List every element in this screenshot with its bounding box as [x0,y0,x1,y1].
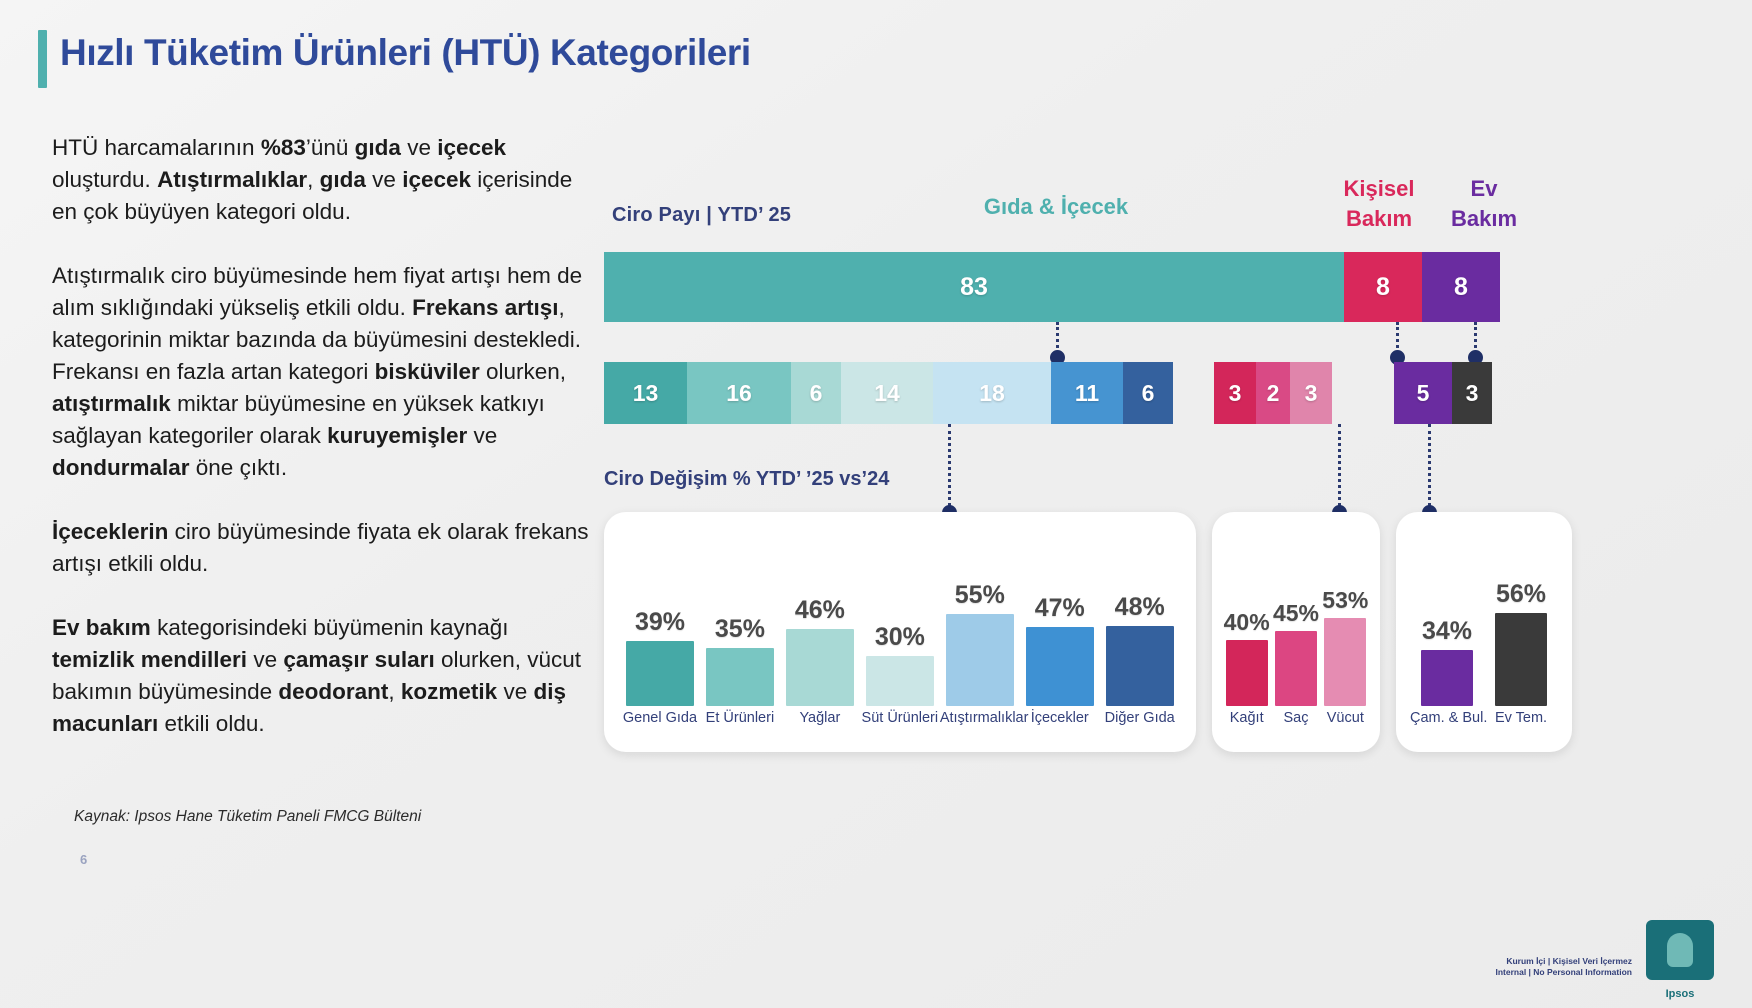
detail-segment-kagit: 3 [1214,362,1256,424]
detail-segment-atistirmaliklar: 18 [933,362,1051,424]
change-card-home-care: 34% 56% Çam. & Bul. Ev Tem. [1396,512,1572,752]
paragraph-2: Atıştırmalık ciro büyümesinde hem fiyat … [52,260,592,484]
detail-bar-personal-care: 3 2 3 [1214,362,1332,424]
bar-rect [866,656,934,706]
change-bar-vucut: 53% [1321,587,1370,706]
change-bar-genel-gida: 39% [620,608,700,706]
detail-segment-diger-gida: 6 [1123,362,1173,424]
bar-rect [1324,618,1366,706]
paragraph-3: İçeceklerin ciro büyümesinde fiyata ek o… [52,516,592,580]
bar-rect [1495,613,1547,706]
detail-bar-home-care: 5 3 [1394,362,1492,424]
change-bar-diger-gida: 48% [1100,593,1180,706]
connector-line-food-bottom [948,424,951,512]
change-card-personal-care: 40% 45% 53% Kağıt Saç Vücut [1212,512,1380,752]
bar-rect [1275,631,1317,706]
group-label-home-care: Ev Bakım [1436,178,1532,230]
category-label: Çam. & Bul. [1410,710,1484,736]
category-label: Atıştırmalıklar [940,710,1020,736]
change-bar-atistirmaliklar: 55% [940,581,1020,706]
share-segment-food: 83 [604,252,1344,322]
change-bars-personal-care: 40% 45% 53% [1212,536,1380,706]
change-bar-sac: 45% [1271,600,1320,706]
paragraph-4: Ev bakım kategorisindeki büyümenin kayna… [52,612,592,740]
detail-segment-camasir-bulasik: 5 [1394,362,1452,424]
change-bar-sut-urunleri: 30% [860,623,940,706]
detail-segment-sut-urunleri: 14 [841,362,933,424]
classification-line-1: Kurum İçi | Kişisel Veri İçermez [1495,956,1632,967]
change-categories-food: Genel Gıda Et Ürünleri Yağlar Süt Ürünle… [604,710,1196,736]
detail-segment-yaglar: 6 [791,362,841,424]
category-label: Süt Ürünleri [860,710,940,736]
bar-rect [1026,627,1094,706]
group-label-food: Gıda & İçecek [926,196,1186,218]
detail-segment-vucut: 3 [1290,362,1332,424]
slide: Hızlı Tüketim Ürünleri (HTÜ) Kategoriler… [0,0,1752,1008]
page-title: Hızlı Tüketim Ürünleri (HTÜ) Kategoriler… [60,32,751,74]
category-label: Kağıt [1222,710,1271,736]
title-accent-bar [38,30,47,88]
detail-segment-ev-temizlik: 3 [1452,362,1492,424]
bar-rect [1106,626,1174,706]
chart-share-label: Ciro Payı | YTD’ 25 [612,204,791,227]
share-segment-personal-care: 8 [1344,252,1422,322]
bar-rect [706,648,774,706]
category-label: Ev Tem. [1484,710,1558,736]
category-label: Diğer Gıda [1100,710,1180,736]
change-bar-et-urunleri: 35% [700,615,780,706]
chart-area: Ciro Payı | YTD’ 25 Gıda & İçecek Kişise… [596,160,1706,800]
category-label: Yağlar [780,710,860,736]
paragraph-1: HTÜ harcamalarının %83’ünü gıda ve içece… [52,132,592,228]
change-bar-icecekler: 47% [1020,594,1100,706]
classification-line-2: Internal | No Personal Information [1495,967,1632,978]
bar-rect [626,641,694,706]
change-card-food: 39% 35% 46% 30% 55% [604,512,1196,752]
change-bar-ev-temizlik: 56% [1484,580,1558,706]
connector-line-personal-bottom [1338,424,1341,512]
change-bars-home-care: 34% 56% [1396,536,1572,706]
change-categories-home-care: Çam. & Bul. Ev Tem. [1396,710,1572,736]
category-label: Et Ürünleri [700,710,780,736]
detail-segment-et-urunleri: 16 [687,362,791,424]
narrative-copy: HTÜ harcamalarının %83’ünü gıda ve içece… [52,132,592,772]
ipsos-wordmark: Ipsos [1646,988,1714,1000]
change-bar-camasir-bulasik: 34% [1410,617,1484,706]
classification-note: Kurum İçi | Kişisel Veri İçermez Interna… [1495,956,1632,978]
change-bar-kagit: 40% [1222,609,1271,706]
bar-rect [1421,650,1473,706]
category-label: Genel Gıda [620,710,700,736]
page-number: 6 [80,852,87,867]
change-categories-personal-care: Kağıt Saç Vücut [1212,710,1380,736]
ipsos-mark [1667,933,1693,967]
group-label-personal-care: Kişisel Bakım [1331,178,1427,230]
revenue-share-bar: 83 8 8 [604,252,1500,322]
detail-bar-food: 13 16 6 14 18 11 6 [604,362,1173,424]
ipsos-logo-icon [1646,920,1714,980]
category-label: Saç [1271,710,1320,736]
detail-segment-icecekler: 11 [1051,362,1123,424]
bar-rect [946,614,1014,706]
detail-segment-sac: 2 [1256,362,1290,424]
change-bars-food: 39% 35% 46% 30% 55% [604,536,1196,706]
bar-rect [1226,640,1268,706]
chart-change-label: Ciro Değişim % YTD’ ’25 vs’24 [604,468,889,491]
connector-line-home-bottom [1428,424,1431,512]
source-note: Kaynak: Ipsos Hane Tüketim Paneli FMCG B… [74,808,421,826]
change-bar-yaglar: 46% [780,596,860,706]
category-label: Vücut [1321,710,1370,736]
detail-segment-genel-gida: 13 [604,362,687,424]
bar-rect [786,629,854,706]
category-label: İçecekler [1020,710,1100,736]
share-segment-home-care: 8 [1422,252,1500,322]
